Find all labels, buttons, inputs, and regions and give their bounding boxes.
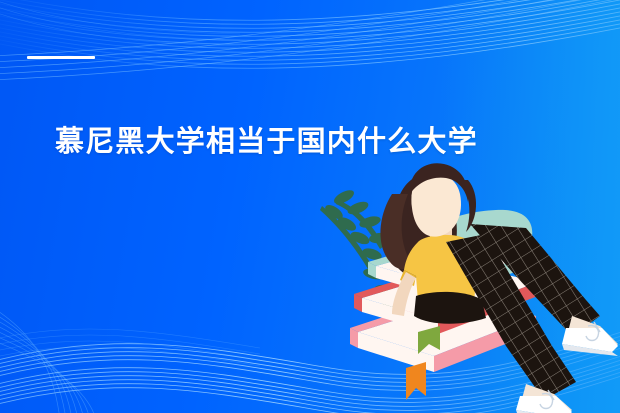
illustration-woman-on-books (300, 150, 620, 413)
banner-card: 慕尼黑大学相当于国内什么大学 (0, 0, 620, 413)
bookmark-orange-icon (406, 362, 426, 400)
accent-rule (27, 56, 95, 59)
